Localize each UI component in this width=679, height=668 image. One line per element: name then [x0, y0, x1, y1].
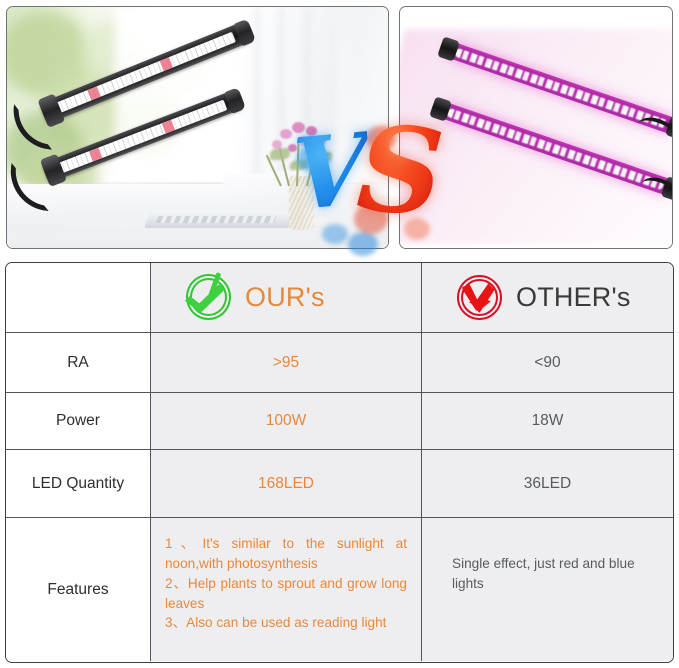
- row-label-power: Power: [6, 393, 151, 449]
- flower-petal: [280, 129, 292, 139]
- row-label-ra: RA: [6, 333, 151, 392]
- red-cross-icon: [456, 274, 503, 321]
- ours-title: OUR's: [245, 282, 325, 313]
- ours-feature-list: 1、It's similar to the sunlight at noon,w…: [165, 534, 407, 633]
- table-row-led-quantity: LED Quantity 168LED 36LED: [6, 450, 673, 518]
- other-title: OTHER's: [516, 282, 631, 313]
- header-other-cell: OTHER's: [422, 263, 673, 332]
- cell-ours-power: 100W: [151, 393, 422, 449]
- feature-line: 1、It's similar to the sunlight at noon,w…: [165, 534, 407, 574]
- comparison-table: OUR's OTHER's RA >95 <90 Power 100W: [5, 262, 674, 663]
- laptop-keyboard: [156, 216, 277, 223]
- leaf: [270, 148, 290, 160]
- leaf: [290, 160, 308, 170]
- table-header-row: OUR's OTHER's: [6, 263, 673, 333]
- leaf: [310, 152, 332, 163]
- pink-scene-background: [400, 7, 672, 248]
- ours-product-photo: [6, 6, 389, 249]
- cell-other-power: 18W: [422, 393, 673, 449]
- flower-petal: [288, 144, 297, 152]
- cell-ours-ra: >95: [151, 333, 422, 392]
- cell-ours-features: 1、It's similar to the sunlight at noon,w…: [151, 518, 422, 661]
- cell-other-ra: <90: [422, 333, 673, 392]
- flower-petal: [292, 122, 305, 133]
- table-row-features: Features 1、It's similar to the sunlight …: [6, 518, 673, 661]
- header-ours-cell: OUR's: [151, 263, 422, 332]
- other-feature-text: Single effect, just red and blue lights: [436, 534, 659, 594]
- header-empty-cell: [6, 263, 151, 332]
- flower-petal: [306, 126, 317, 136]
- feature-line: 2、Help plants to sprout and grow long le…: [165, 574, 407, 614]
- product-comparison-page: V S OUR's: [0, 0, 679, 668]
- table-row-power: Power 100W 18W: [6, 393, 673, 450]
- cell-ours-led-quantity: 168LED: [151, 450, 422, 517]
- flower-petal: [316, 136, 326, 145]
- flower-bouquet: [262, 120, 336, 186]
- green-check-icon: [185, 274, 232, 321]
- flower-petal: [298, 136, 309, 146]
- feature-line: 3、Also can be used as reading light: [165, 613, 407, 633]
- row-label-features: Features: [6, 518, 151, 661]
- cell-other-features: Single effect, just red and blue lights: [422, 518, 673, 661]
- flower-petal: [272, 140, 282, 149]
- cell-other-led-quantity: 36LED: [422, 450, 673, 517]
- row-label-led-quantity: LED Quantity: [6, 450, 151, 517]
- table-row-ra: RA >95 <90: [6, 333, 673, 393]
- room-scene-background: [7, 7, 388, 248]
- photo-comparison-area: V S: [0, 0, 679, 256]
- other-product-photo: [399, 6, 673, 249]
